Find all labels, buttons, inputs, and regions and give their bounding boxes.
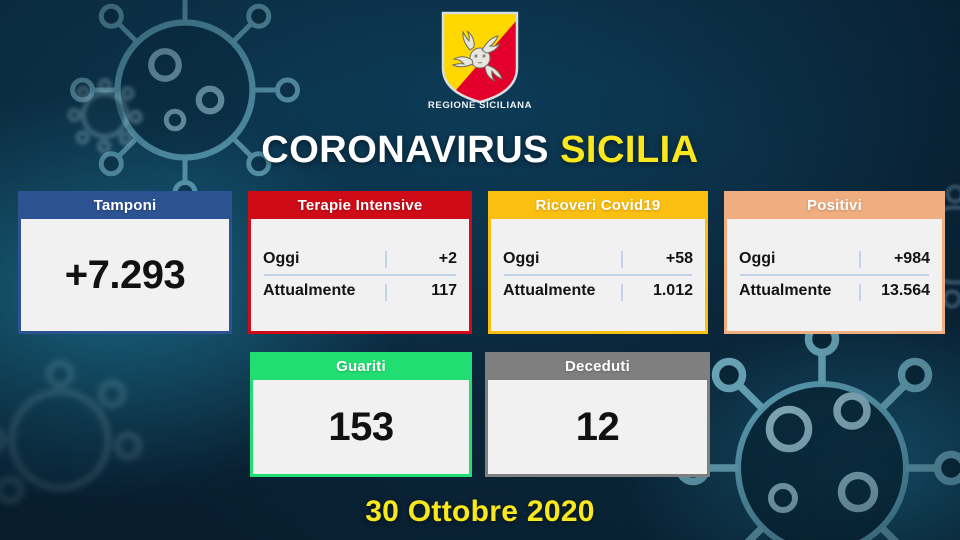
card-tamponi-value: +7.293	[21, 253, 229, 298]
card-guariti-value: 153	[253, 405, 469, 450]
card-positivi: Positivi Oggi +984 Attualmente 13.564	[724, 191, 945, 334]
card-tamponi: Tamponi +7.293	[18, 191, 232, 334]
card-guariti-body: 153	[250, 380, 472, 477]
report-date: 30 Ottobre 2020	[0, 495, 960, 529]
card-positivi-body: Oggi +984 Attualmente 13.564	[724, 219, 945, 334]
card-guariti-header: Guariti	[250, 352, 472, 380]
card-ricoveri-covid19-row-attualmente: Attualmente 1.012	[503, 276, 693, 307]
row-value: 117	[431, 282, 457, 300]
regione-siciliana-label: REGIONE SICILIANA	[0, 100, 960, 111]
card-deceduti-body: 12	[485, 380, 710, 477]
card-positivi-row-oggi: Oggi +984	[739, 243, 930, 274]
row-value: +2	[439, 250, 457, 268]
page-title-main: CORONAVIRUS	[261, 129, 549, 171]
row-label: Attualmente	[503, 282, 595, 300]
row-vertical-divider	[859, 251, 861, 268]
card-guariti: Guariti 153	[250, 352, 472, 477]
row-label: Attualmente	[263, 282, 355, 300]
row-label: Oggi	[739, 250, 775, 268]
row-vertical-divider	[621, 284, 623, 301]
card-terapie-intensive-row-attualmente: Attualmente 117	[263, 276, 457, 307]
card-terapie-intensive-row-oggi: Oggi +2	[263, 243, 457, 274]
row-vertical-divider	[859, 284, 861, 301]
card-positivi-header: Positivi	[724, 191, 945, 219]
row-value: +984	[894, 250, 930, 268]
card-ricoveri-covid19-body: Oggi +58 Attualmente 1.012	[488, 219, 708, 334]
row-vertical-divider	[385, 251, 387, 268]
card-terapie-intensive-header: Terapie Intensive	[248, 191, 472, 219]
row-label: Oggi	[263, 250, 299, 268]
card-positivi-row-attualmente: Attualmente 13.564	[739, 276, 930, 307]
trinacria-icon	[437, 10, 523, 105]
row-value: +58	[666, 250, 693, 268]
row-vertical-divider	[385, 284, 387, 301]
card-deceduti-value: 12	[488, 405, 707, 450]
row-label: Oggi	[503, 250, 539, 268]
card-tamponi-header: Tamponi	[18, 191, 232, 219]
row-value: 13.564	[881, 282, 930, 300]
card-terapie-intensive-rows: Oggi +2 Attualmente 117	[251, 243, 469, 307]
card-ricoveri-covid19-rows: Oggi +58 Attualmente 1.012	[491, 243, 705, 307]
card-ricoveri-covid19-header: Ricoveri Covid19	[488, 191, 708, 219]
row-vertical-divider	[621, 251, 623, 268]
card-positivi-rows: Oggi +984 Attualmente 13.564	[727, 243, 942, 307]
page-title-accent: SICILIA	[560, 129, 699, 171]
card-ricoveri-covid19-row-oggi: Oggi +58	[503, 243, 693, 274]
card-terapie-intensive: Terapie Intensive Oggi +2 Attualmente 11…	[248, 191, 472, 334]
card-tamponi-body: +7.293	[18, 219, 232, 334]
row-value: 1.012	[653, 282, 693, 300]
card-deceduti-header: Deceduti	[485, 352, 710, 380]
card-ricoveri-covid19: Ricoveri Covid19 Oggi +58 Attualmente 1.…	[488, 191, 708, 334]
page-title: CORONAVIRUS SICILIA	[0, 131, 960, 169]
card-deceduti: Deceduti 12	[485, 352, 710, 477]
row-label: Attualmente	[739, 282, 831, 300]
card-terapie-intensive-body: Oggi +2 Attualmente 117	[248, 219, 472, 334]
